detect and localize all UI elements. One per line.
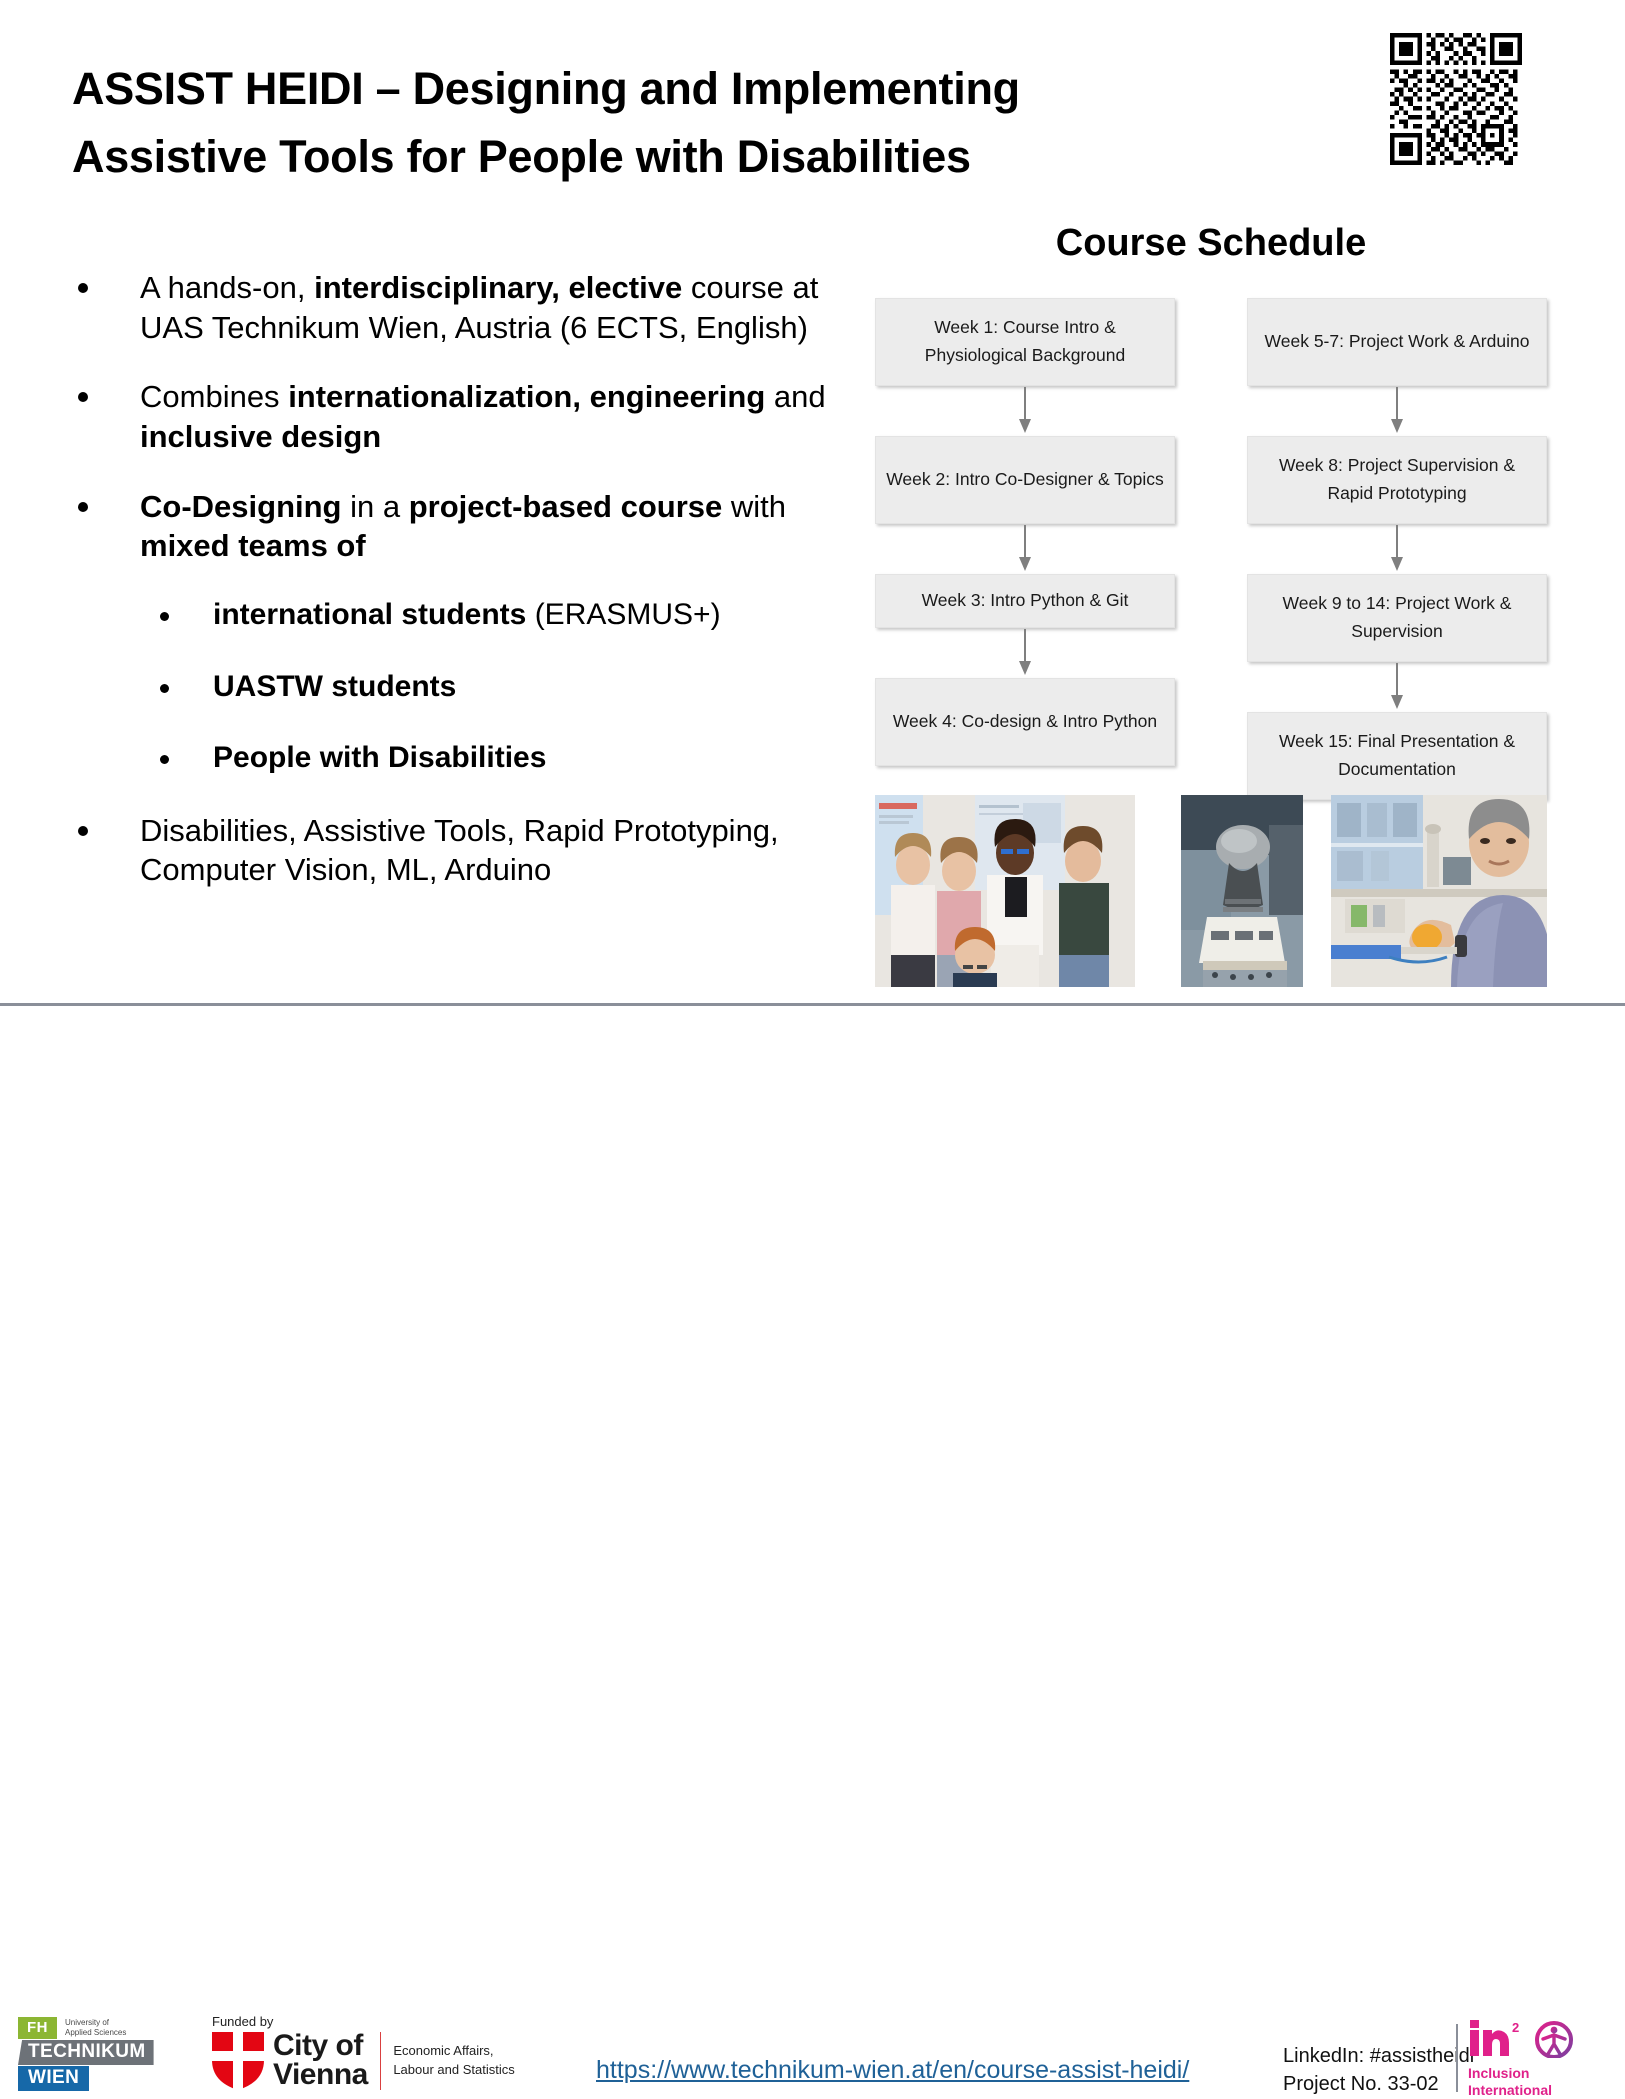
flow-node[interactable]: Week 5-7: Project Work & Arduino [1247, 298, 1547, 386]
fh-technikum-wien-logo: FH University of Applied Sciences TECHNI… [18, 2017, 178, 2079]
flow-arrow-down-icon [875, 524, 1175, 574]
flow-arrow-down-icon [1247, 386, 1547, 436]
course-schedule-heading: Course Schedule [875, 222, 1547, 265]
qr-code-icon[interactable] [1390, 33, 1522, 165]
page-title-line2: Assistive Tools for People with Disabili… [72, 123, 1322, 191]
linkedin-handle: LinkedIn: #assistheidi [1283, 2043, 1474, 2071]
flow-node[interactable]: Week 15: Final Presentation & Documentat… [1247, 712, 1547, 800]
bullet-text-4: Disabilities, Assistive Tools, Rapid Pro… [140, 811, 868, 890]
fh-logo-mark: FH [18, 2017, 57, 2039]
flow-node[interactable]: Week 2: Intro Co-Designer & Topics [875, 436, 1175, 524]
vienna-department-label: Economic Affairs, Labour and Statistics [393, 2042, 514, 2080]
bullet-dot-icon [78, 502, 88, 512]
bullet-dot-icon [78, 392, 88, 402]
page-title-line1: ASSIST HEIDI – Designing and Implementin… [72, 55, 1322, 123]
list-item: Co-Designing in a project-based course w… [78, 487, 868, 566]
city-of-vienna-logo: Funded by City of Vienna Economic Affair… [212, 2014, 515, 2094]
flow-arrow-down-icon [875, 628, 1175, 678]
fh-logo-subtitle: University of Applied Sciences [65, 2018, 126, 2038]
fh-logo-technikum: TECHNIKUM [18, 2040, 154, 2065]
list-item: Disabilities, Assistive Tools, Rapid Pro… [78, 811, 868, 890]
inclusion-logo-icon: 2 [1468, 2018, 1586, 2058]
course-schedule-flowchart: Week 1: Course Intro & Physiological Bac… [875, 298, 1547, 800]
list-item: People with Disabilities [78, 739, 868, 777]
inclusion-logo-text: Inclusion International [1468, 2065, 1593, 2099]
photo-assistive-joystick [1181, 795, 1303, 987]
photo-strip [875, 795, 1547, 987]
list-item: UASTW students [78, 668, 868, 706]
vienna-city-label: City of [273, 2032, 368, 2061]
bullet-text-3: Co-Designing in a project-based course w… [140, 487, 868, 566]
flow-node[interactable]: Week 8: Project Supervision & Rapid Prot… [1247, 436, 1547, 524]
page-title: ASSIST HEIDI – Designing and Implementin… [72, 55, 1322, 192]
flow-node[interactable]: Week 3: Intro Python & Git [875, 574, 1175, 628]
flow-arrow-down-icon [1247, 662, 1547, 712]
flow-node[interactable]: Week 9 to 14: Project Work & Supervision [1247, 574, 1547, 662]
flow-node[interactable]: Week 4: Co-design & Intro Python [875, 678, 1175, 766]
svg-text:2: 2 [1512, 2020, 1519, 2035]
course-url-link[interactable]: https://www.technikum-wien.at/en/course-… [596, 2056, 1189, 2085]
flow-node[interactable]: Week 1: Course Intro & Physiological Bac… [875, 298, 1175, 386]
bullet-dot-icon [78, 826, 88, 836]
photo-user-testing [1331, 795, 1547, 987]
footer-contact-info: LinkedIn: #assistheidi Project No. 33-02 [1283, 2043, 1474, 2098]
flow-arrow-down-icon [1247, 524, 1547, 574]
vienna-divider [380, 2032, 382, 2090]
list-item: Combines internationalization, engineeri… [78, 377, 868, 456]
key-points-list: A hands-on, interdisciplinary, elective … [78, 268, 868, 920]
bullet-dot-icon [78, 283, 88, 293]
inclusion-divider [1456, 2024, 1458, 2092]
sub-bullet-list: international students (ERASMUS+) UASTW … [78, 596, 868, 777]
list-item: A hands-on, interdisciplinary, elective … [78, 268, 868, 347]
bullet-dot-icon [160, 612, 169, 621]
photo-team-group [875, 795, 1135, 987]
bullet-dot-icon [160, 684, 169, 693]
bullet-text-2: Combines internationalization, engineeri… [140, 377, 868, 456]
fh-logo-wien: WIEN [18, 2066, 89, 2091]
funded-by-label: Funded by [212, 2014, 515, 2029]
inclusion-international-logo: 2 Inclusion International [1468, 2018, 1593, 2098]
flowchart-column-right: Week 5-7: Project Work & Arduino Week 8:… [1247, 298, 1547, 800]
sub-bullet-text-3: People with Disabilities [213, 739, 546, 777]
bullet-dot-icon [160, 755, 169, 764]
footer: FH University of Applied Sciences TECHNI… [0, 1006, 1625, 1125]
bullet-text-1: A hands-on, interdisciplinary, elective … [140, 268, 868, 347]
project-number: Project No. 33-02 [1283, 2071, 1474, 2099]
flow-arrow-down-icon [875, 386, 1175, 436]
vienna-shield-icon [212, 2032, 264, 2090]
sub-bullet-text-2: UASTW students [213, 668, 456, 706]
list-item: international students (ERASMUS+) [78, 596, 868, 634]
flowchart-column-left: Week 1: Course Intro & Physiological Bac… [875, 298, 1175, 800]
vienna-vienna-label: Vienna [273, 2061, 368, 2090]
sub-bullet-text-1: international students (ERASMUS+) [213, 596, 721, 634]
